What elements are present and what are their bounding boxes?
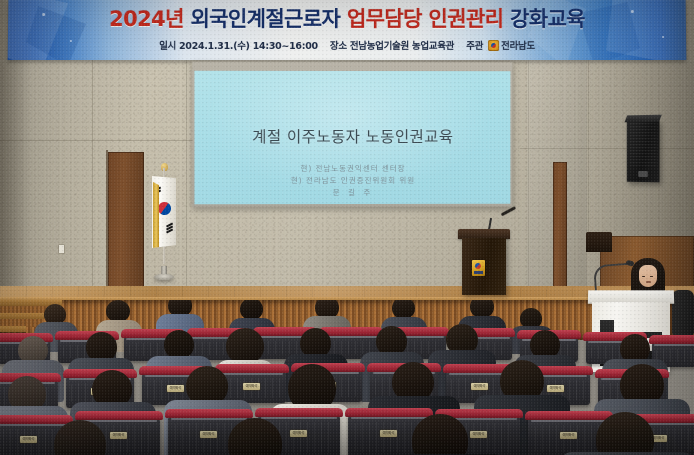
banner-title-topic: 업무담당 인권관리	[347, 7, 510, 31]
banner-place-value: 전남농업기술원 농업교육관	[350, 41, 454, 52]
wall-panel-seam	[92, 58, 93, 288]
stage-right-door[interactable]	[553, 162, 567, 288]
presenter-eye	[642, 276, 645, 277]
slide-line-2: 현) 전라남도 인권증진위원회 위원	[194, 175, 510, 186]
wall-panel-seam	[0, 140, 200, 141]
seat-number-plate: 예약좌석	[110, 432, 127, 439]
banner-subtitle: 일시 2024.1.31.(수) 14:30~16:00 장소 전남농업기술원 …	[8, 38, 687, 52]
event-banner: 2024년 외국인계절근로자 업무담당 인권관리 강화교육 일시 2024.1.…	[8, 0, 687, 60]
seat-number-plate: 예약좌석	[243, 383, 260, 390]
projection-screen-frame: 계절 이주노동자 노동인권교육 현) 전남노동권익센터 센터장 현) 전라남도 …	[192, 62, 512, 208]
seat-number-plate: 예약좌석	[471, 383, 488, 390]
presenter-mouth	[646, 281, 651, 283]
banner-title-year: 2024년	[109, 7, 191, 31]
seat-number-plate: 예약좌석	[547, 385, 564, 392]
projection-screen: 계절 이주노동자 노동인권교육 현) 전남노동권익센터 센터장 현) 전라남도 …	[194, 71, 510, 204]
seat-number-plate: 예약좌석	[20, 436, 37, 443]
slide-line-3: 문 길 주	[194, 187, 510, 198]
lecture-hall-photo: 2024년 외국인계절근로자 업무담당 인권관리 강화교육 일시 2024.1.…	[0, 0, 694, 455]
seat-number-plate: 예약좌석	[167, 385, 184, 392]
wall-light-switch[interactable]	[59, 245, 64, 253]
flag-cloth	[152, 176, 176, 248]
lectern-body	[462, 238, 506, 295]
banner-host-value: 전라남도	[501, 41, 535, 52]
auditorium-seat[interactable]: 예약좌석	[218, 369, 286, 403]
presenter-face	[639, 265, 657, 287]
speaker-grille	[630, 123, 657, 168]
wall-panel-seam	[186, 58, 187, 288]
banner-title-suffix: 강화교육	[510, 7, 585, 31]
audience-head	[164, 330, 194, 359]
stage-left-door[interactable]	[108, 152, 144, 288]
slide-title: 계절 이주노동자 노동인권교육	[194, 125, 510, 147]
wooden-lectern[interactable]	[462, 229, 506, 295]
seat-number-plate: 예약좌석	[290, 430, 307, 437]
south-korea-flag-taegeukgi	[146, 168, 182, 280]
slide-line-1: 현) 전남노동권익센터 센터장	[194, 163, 510, 174]
banner-date-value: 2024.1.31.(수) 14:30~16:00	[179, 41, 318, 52]
jeollanamdo-emblem-icon	[488, 40, 499, 51]
banner-place-label: 장소	[330, 41, 347, 52]
banner-date-label: 일시	[159, 41, 176, 52]
banner-title: 2024년 외국인계절근로자 업무담당 인권관리 강화교육	[8, 6, 686, 32]
audience-head	[240, 300, 263, 320]
seat-number-plate: 예약좌석	[470, 431, 487, 438]
seat-number-plate: 예약좌석	[200, 431, 217, 438]
seat-number-plate: 예약좌석	[560, 432, 577, 439]
banner-host-label: 주관	[466, 41, 483, 52]
door-jamb	[106, 150, 108, 288]
speaker-badge	[638, 171, 648, 177]
audience-head-long-hair	[226, 328, 264, 364]
flag-fringe	[153, 182, 159, 248]
audience-head	[106, 300, 130, 322]
seat-number-plate: 예약좌석	[380, 430, 397, 437]
gooseneck-microphone	[593, 263, 631, 293]
flag-stand	[154, 266, 174, 280]
presenter-eye	[650, 276, 653, 277]
provincial-emblem-plaque	[472, 260, 485, 276]
seated-audience: 예약좌석 예약좌석 예약좌석 예약좌석 예약좌석 예약좌석 예약좌석 예약좌석 …	[0, 300, 694, 455]
banner-title-subject: 외국인계절근로자	[190, 7, 346, 31]
wall-mounted-loudspeaker	[627, 120, 660, 183]
stage-side-table	[586, 232, 612, 252]
speaker-bracket	[625, 115, 662, 123]
